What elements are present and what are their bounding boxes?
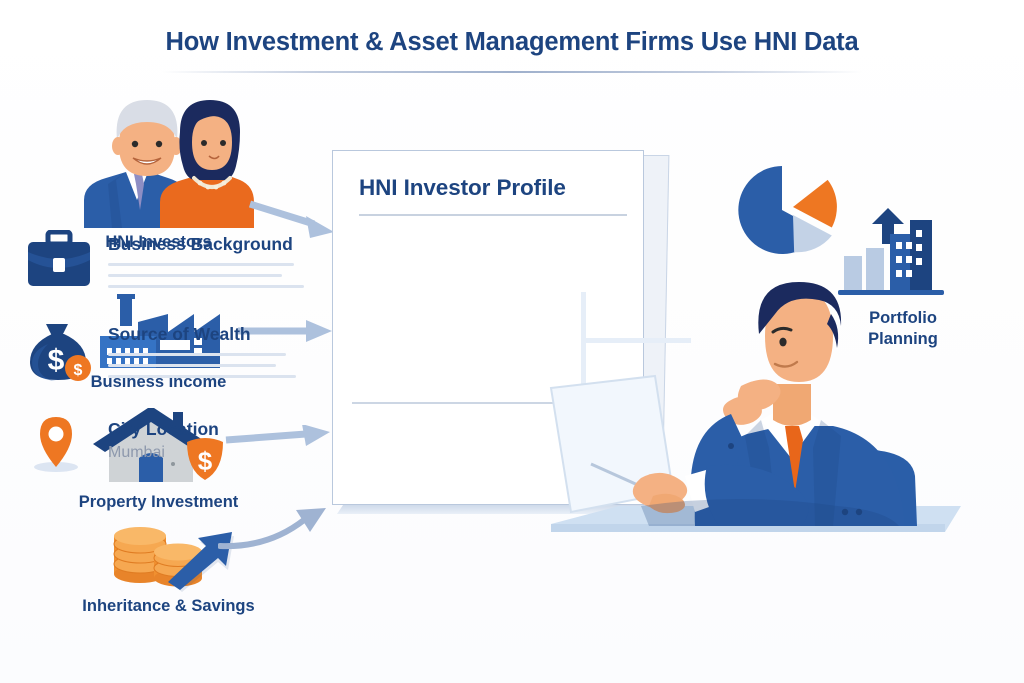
placeholder-line (108, 353, 286, 356)
svg-text:$: $ (74, 362, 83, 379)
page-title: How Investment & Asset Management Firms … (0, 28, 1024, 57)
svg-text:$: $ (48, 344, 65, 377)
title-divider (162, 71, 862, 73)
arrow-property-to-card (224, 425, 334, 456)
card-title: HNI Investor Profile (359, 175, 621, 201)
card-row-text: Source of Wealth (108, 320, 296, 378)
placeholder-line (108, 263, 294, 266)
pie-chart-icon (736, 160, 844, 260)
card-title-divider (359, 214, 627, 216)
couple-illustration-icon (36, 88, 281, 233)
placeholder-line (108, 364, 276, 367)
placeholder-line (108, 274, 282, 277)
arrow-inheritance-to-card (218, 498, 333, 559)
placeholder-line (108, 285, 304, 288)
card-row-source-of-wealth[interactable]: $ $ Source of Wealth (26, 320, 296, 378)
card-row-label: Source of Wealth (108, 324, 296, 345)
businessman-reading-document-illustration (545, 280, 965, 570)
location-pin-icon (26, 415, 92, 473)
briefcase-icon (26, 230, 92, 288)
card-row-business-background[interactable]: Business Background (26, 230, 304, 288)
card-row-label: Business Background (108, 234, 304, 255)
infographic-canvas: How Investment & Asset Management Firms … (0, 0, 1024, 683)
left-item-label: Inheritance & Savings (36, 597, 301, 616)
card-row-text: City Location Mumbai (108, 415, 219, 462)
card-row-city-location[interactable]: City Location Mumbai (26, 415, 219, 473)
left-item-hni-investors[interactable]: HNI Investors (36, 88, 281, 252)
card-row-text: Business Background (108, 230, 304, 288)
card-row-label: City Location (108, 419, 219, 440)
title-block: How Investment & Asset Management Firms … (0, 28, 1024, 73)
placeholder-line (108, 375, 296, 378)
card-row-sublabel: Mumbai (108, 444, 219, 462)
money-bag-icon: $ $ (26, 320, 92, 378)
